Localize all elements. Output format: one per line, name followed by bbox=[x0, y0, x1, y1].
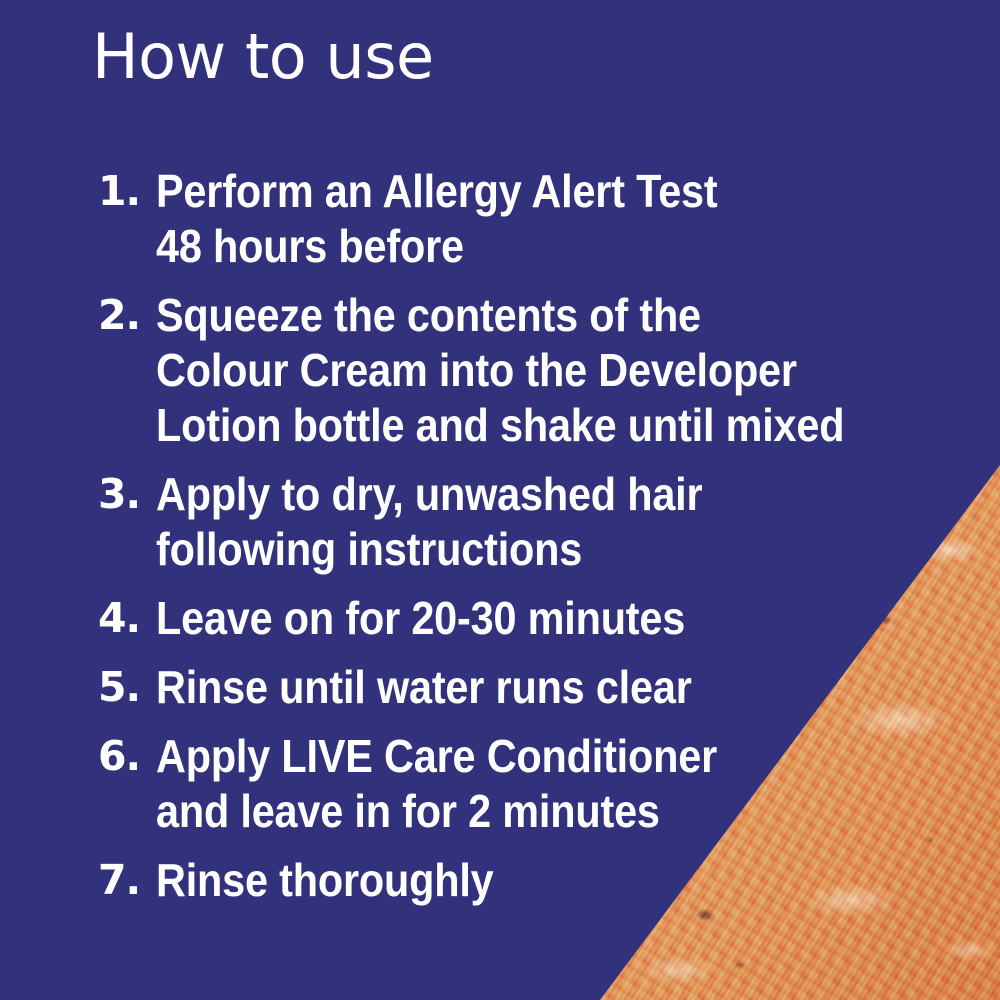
step-text: Rinse until water runs clear bbox=[156, 660, 916, 715]
step-number: 4. bbox=[98, 591, 156, 646]
step-item: 7.Rinse thoroughly bbox=[40, 853, 1000, 908]
step-number: 1. bbox=[98, 164, 156, 219]
step-text: Apply to dry, unwashed hair following in… bbox=[156, 467, 916, 577]
page-title: How to use bbox=[92, 24, 434, 89]
step-item: 3.Apply to dry, unwashed hair following … bbox=[40, 467, 1000, 577]
step-item: 1.Perform an Allergy Alert Test 48 hours… bbox=[40, 164, 1000, 274]
step-text: Apply LIVE Care Conditioner and leave in… bbox=[156, 729, 916, 839]
step-text: Squeeze the contents of the Colour Cream… bbox=[156, 288, 916, 453]
step-number: 3. bbox=[98, 467, 156, 522]
step-number: 5. bbox=[98, 660, 156, 715]
step-number: 7. bbox=[98, 853, 156, 908]
step-item: 4.Leave on for 20-30 minutes bbox=[40, 591, 1000, 646]
step-item: 5.Rinse until water runs clear bbox=[40, 660, 1000, 715]
steps-list: 1.Perform an Allergy Alert Test 48 hours… bbox=[0, 164, 1000, 922]
step-text: Rinse thoroughly bbox=[156, 853, 916, 908]
step-item: 6.Apply LIVE Care Conditioner and leave … bbox=[40, 729, 1000, 839]
how-to-use-poster: How to use 1.Perform an Allergy Alert Te… bbox=[0, 0, 1000, 1000]
step-number: 2. bbox=[98, 288, 156, 343]
step-text: Leave on for 20-30 minutes bbox=[156, 591, 916, 646]
step-number: 6. bbox=[98, 729, 156, 784]
step-text: Perform an Allergy Alert Test 48 hours b… bbox=[156, 164, 916, 274]
step-item: 2.Squeeze the contents of the Colour Cre… bbox=[40, 288, 1000, 453]
